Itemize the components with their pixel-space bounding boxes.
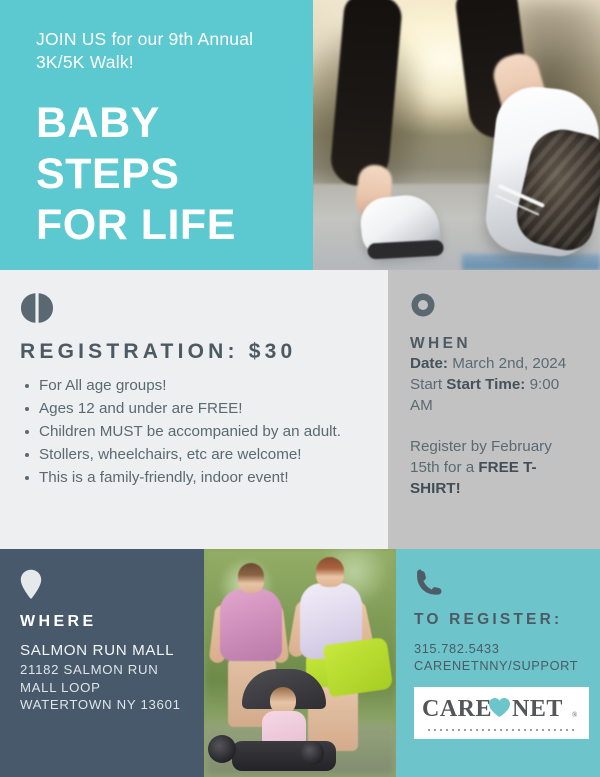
list-item: Stollers, wheelchairs, etc are welcome!	[20, 444, 370, 466]
registration-panel: REGISTRATION: $30 For All age groups! Ag…	[0, 270, 388, 549]
flyer-page: JOIN US for our 9th Annual 3K/5K Walk! B…	[0, 0, 600, 777]
middle-section: REGISTRATION: $30 For All age groups! Ag…	[0, 270, 600, 549]
where-venue: SALMON RUN MALL	[20, 642, 192, 659]
stroller-wheel-left	[208, 735, 236, 763]
to-register-panel: TO REGISTER: 315.782.5433 CARENETNNY/SUP…	[396, 549, 600, 777]
logo-word-care: CARE	[422, 696, 492, 722]
logo-dot-rule	[426, 728, 578, 732]
bottom-photo-stroller	[226, 669, 342, 777]
when-date-label: Date:	[410, 355, 448, 372]
list-item: Children MUST be accompanied by an adult…	[20, 421, 370, 443]
registration-bullet-list: For All age groups! Ages 12 and under ar…	[20, 375, 370, 489]
list-item: For All age groups!	[20, 375, 370, 397]
care-net-logo-inner: CARE NET ®	[420, 693, 583, 733]
bottom-photo-woman1-head	[238, 563, 264, 593]
stroller-wheel-right	[300, 741, 324, 765]
where-title: WHERE	[20, 613, 192, 631]
when-note: Register by February 15th for a FREE T-S…	[410, 436, 584, 499]
when-title: WHEN	[410, 335, 584, 353]
to-register-contact: 315.782.5433 CARENETNNY/SUPPORT	[414, 640, 588, 674]
hero-title: BABY STEPS FOR LIFE	[36, 98, 313, 251]
hero-photo-road-line	[462, 254, 600, 270]
logo-registered-mark: ®	[572, 711, 577, 719]
hero-title-line-3: FOR LIFE	[36, 200, 313, 251]
location-pin-icon	[20, 569, 42, 599]
to-register-phone[interactable]: 315.782.5433	[414, 640, 588, 657]
logo-word-net: NET	[512, 696, 563, 722]
list-item: Ages 12 and under are FREE!	[20, 398, 370, 420]
when-time-line: Start Start Time: 9:00 AM	[410, 374, 584, 416]
hero-photo-shoe-front	[483, 83, 600, 259]
hero-text-block: JOIN US for our 9th Annual 3K/5K Walk! B…	[0, 0, 313, 270]
hero-title-line-1: BABY	[36, 98, 313, 149]
hero-photo	[313, 0, 600, 270]
registration-title: REGISTRATION: $30	[20, 340, 370, 364]
ring-icon	[410, 292, 436, 318]
hero-photo-shoe-tread	[511, 123, 600, 256]
when-date-value: March 2nd, 2024	[448, 355, 566, 372]
care-net-logo: CARE NET ®	[414, 687, 589, 739]
where-address: 21182 SALMON RUN MALL LOOP WATERTOWN NY …	[20, 661, 192, 714]
hero-join-line: JOIN US for our 9th Annual 3K/5K Walk!	[36, 28, 298, 74]
where-address-line-2: MALL LOOP	[20, 679, 192, 697]
bowtie-icon	[20, 292, 54, 324]
when-date-line: Date: March 2nd, 2024	[410, 353, 584, 374]
when-time-label-start: Start	[410, 376, 446, 393]
bottom-photo-woman2-head	[316, 557, 344, 587]
heart-icon	[488, 697, 511, 718]
when-time-label: Start Time:	[446, 376, 525, 393]
phone-icon	[414, 567, 444, 597]
where-address-line-1: 21182 SALMON RUN	[20, 661, 192, 679]
where-panel: WHERE SALMON RUN MALL 21182 SALMON RUN M…	[0, 549, 204, 777]
bottom-section: WHERE SALMON RUN MALL 21182 SALMON RUN M…	[0, 549, 600, 777]
to-register-title: TO REGISTER:	[414, 611, 588, 629]
to-register-web[interactable]: CARENETNNY/SUPPORT	[414, 657, 588, 674]
when-spacer	[410, 416, 584, 436]
bottom-photo-woman1-shirt	[220, 589, 282, 661]
hero-title-line-2: STEPS	[36, 149, 313, 200]
when-panel: WHEN Date: March 2nd, 2024 Start Start T…	[388, 270, 600, 549]
where-address-line-3: WATERTOWN NY 13601	[20, 696, 192, 714]
list-item: This is a family-friendly, indoor event!	[20, 467, 370, 489]
bottom-photo	[204, 549, 396, 777]
hero-section: JOIN US for our 9th Annual 3K/5K Walk! B…	[0, 0, 600, 270]
